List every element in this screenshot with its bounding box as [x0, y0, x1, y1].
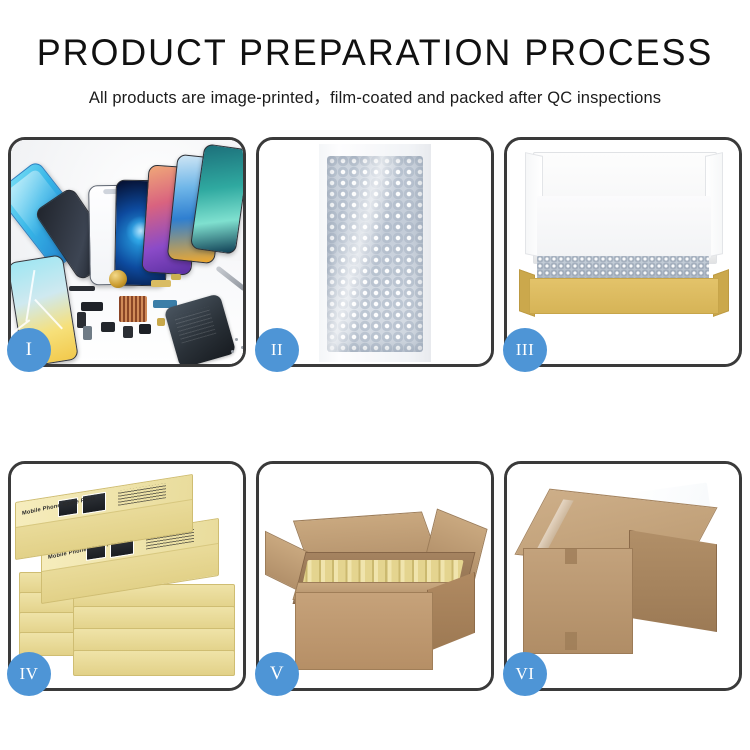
flex-cable-a: [69, 286, 95, 291]
page-header: PRODUCT PREPARATION PROCESS All products…: [0, 0, 750, 108]
open-inner-box: [507, 140, 739, 364]
connector-part-j: [83, 326, 92, 340]
spare-parts-cluster: [67, 266, 243, 362]
step-5-open-carton: V: [256, 461, 494, 691]
step-1-products: I: [8, 137, 246, 367]
step-2-badge: II: [255, 328, 299, 372]
gold-coil-part: [109, 270, 127, 288]
connector-part-g: [101, 322, 115, 332]
page-subtitle: All products are image-printed，film-coat…: [0, 84, 750, 108]
step-5-badge: V: [255, 652, 299, 696]
flex-cable-b: [151, 280, 171, 287]
step-2-image: [259, 140, 491, 364]
page-title: PRODUCT PREPARATION PROCESS: [11, 34, 739, 73]
carton-seam-upper: [565, 548, 577, 564]
box-stack: Mobile Phone Spare Parts Mobile Phone Sp…: [11, 464, 243, 688]
process-step-grid: I II III: [8, 137, 742, 691]
step-3-image: [507, 140, 739, 364]
copper-grid-chip: [119, 296, 147, 322]
step-2-bubble-wrap: II: [256, 137, 494, 367]
carton-front-face: [295, 592, 433, 670]
foam-insert: [537, 196, 711, 258]
connector-part-k: [157, 318, 165, 326]
step-6-sealed-carton: VI: [504, 461, 742, 691]
step-4-badge: IV: [7, 652, 51, 696]
carton-side-face: [629, 530, 717, 632]
carton-seam-lower: [565, 632, 577, 650]
step-1-badge: I: [7, 328, 51, 372]
step-4-image: Mobile Phone Spare Parts Mobile Phone Sp…: [11, 464, 243, 688]
screwdriver-tool: [215, 265, 243, 291]
connector-part-h: [123, 326, 133, 338]
sealed-shipping-carton: [507, 464, 739, 688]
step-6-image: [507, 464, 739, 688]
step-3-badge: III: [503, 328, 547, 372]
step-5-image: [259, 464, 491, 688]
flex-cable-d: [81, 302, 103, 311]
open-shipping-carton: [259, 464, 491, 688]
carton-front-face: [523, 548, 633, 654]
step-1-image: [11, 140, 243, 364]
step-6-badge: VI: [503, 652, 547, 696]
connector-part-i: [139, 324, 151, 334]
bubble-wrap-sleeve: [319, 144, 431, 362]
bubble-pattern: [327, 156, 423, 352]
step-4-stacked-boxes: Mobile Phone Spare Parts Mobile Phone Sp…: [8, 461, 246, 691]
box-body-front: [529, 278, 719, 314]
step-3-inner-box: III: [504, 137, 742, 367]
flex-cable-c: [171, 274, 181, 280]
